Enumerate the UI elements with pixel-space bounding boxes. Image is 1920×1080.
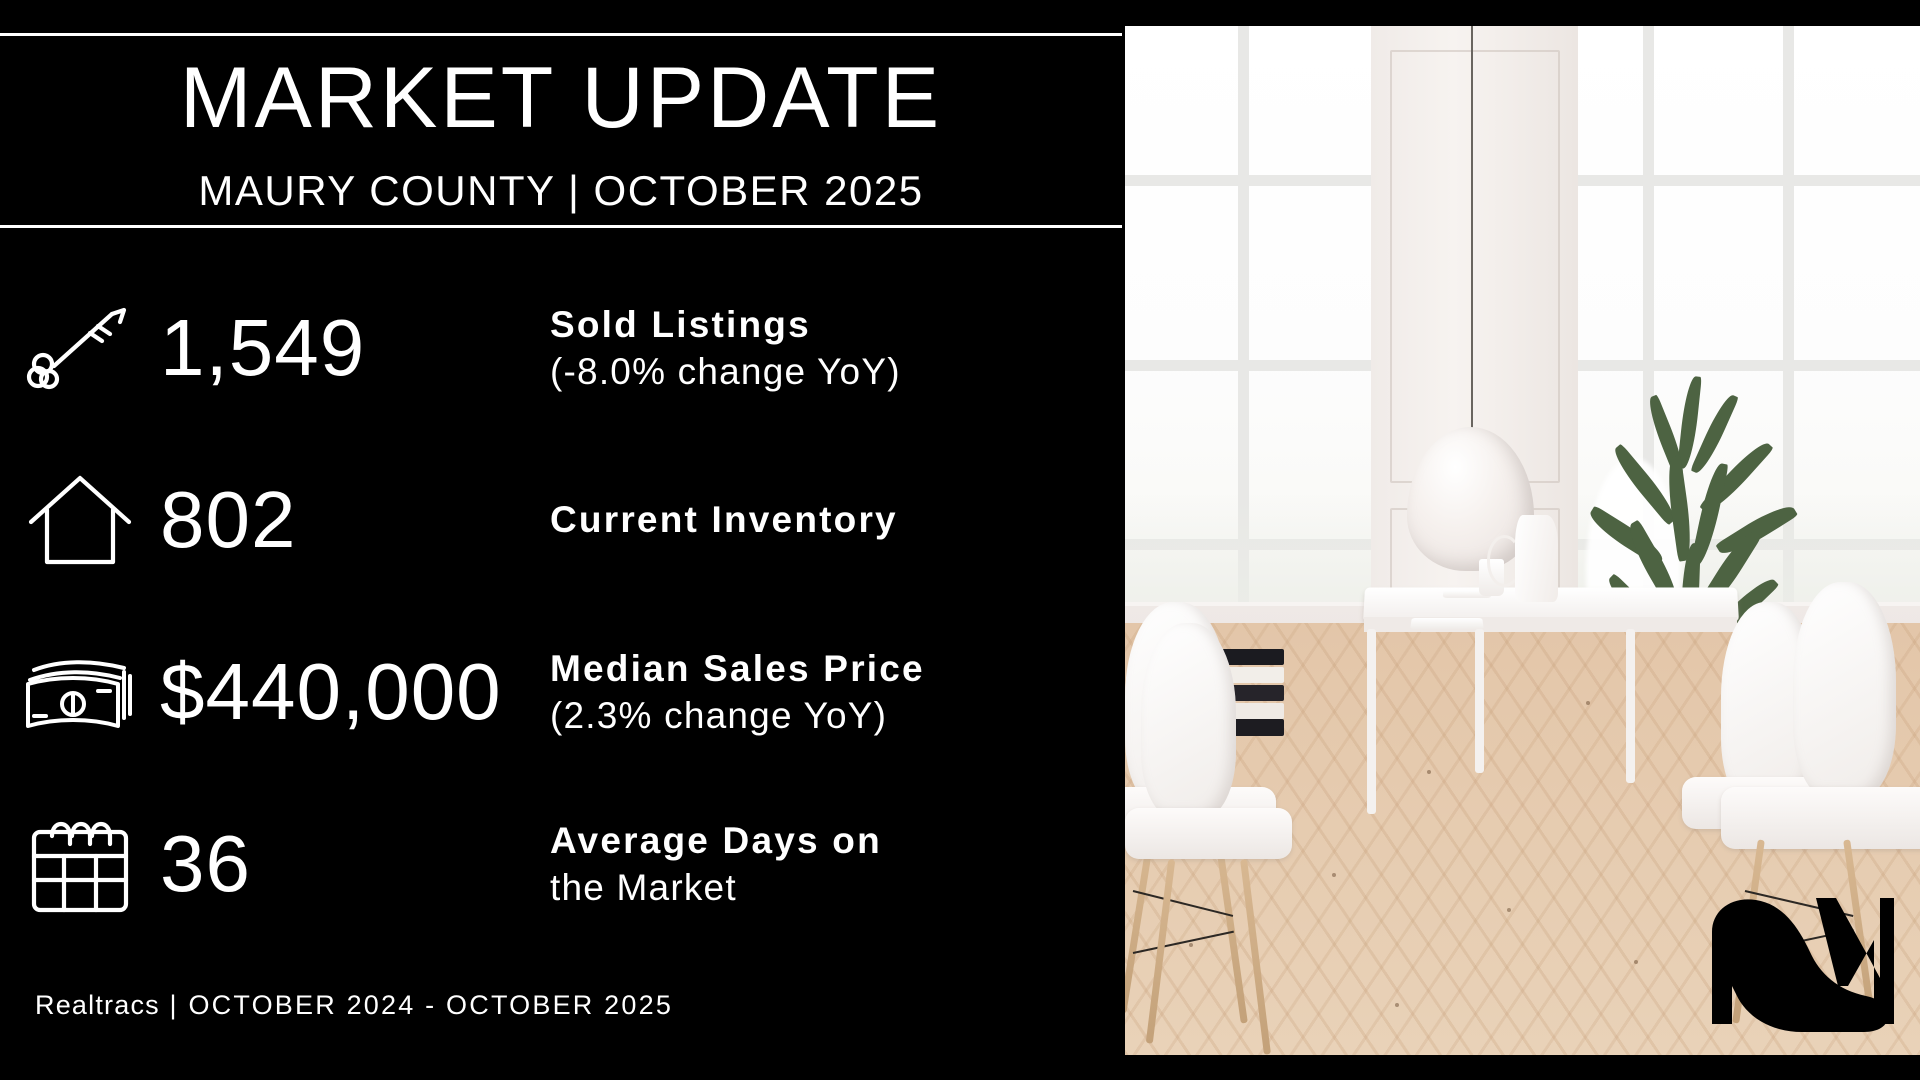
stat-value: 36	[160, 824, 550, 904]
footer-source: Realtracs | OCTOBER 2024 - OCTOBER 2025	[35, 990, 673, 1021]
stat-value: 1,549	[160, 308, 550, 388]
interior-photo	[1125, 26, 1920, 1055]
lamp-cord	[1471, 26, 1473, 438]
chair-right2-back	[1793, 582, 1896, 798]
stat-row: $440,000 Median Sales Price (2.3% change…	[0, 612, 1122, 772]
key-icon	[0, 288, 160, 408]
window-left	[1125, 26, 1371, 623]
calendar-icon	[0, 804, 160, 924]
high-heel-m-logo	[1698, 874, 1898, 1049]
white-jug	[1515, 515, 1559, 602]
footer-separator: |	[160, 990, 189, 1020]
footer-brand: Realtracs	[35, 990, 160, 1020]
stat-label-sub: the Market	[550, 864, 1122, 911]
page-title: MARKET UPDATE	[0, 55, 1122, 141]
table-leg	[1626, 629, 1635, 783]
page-subtitle: MAURY COUNTY | OCTOBER 2025	[0, 170, 1122, 212]
stat-label-main: Current Inventory	[550, 499, 898, 540]
header-rule-bottom	[0, 225, 1122, 228]
cash-icon	[0, 632, 160, 752]
stat-label: Median Sales Price (2.3% change YoY)	[550, 645, 1122, 740]
chair-left2-seat	[1125, 808, 1292, 859]
stat-label-main: Median Sales Price	[550, 648, 925, 689]
stats-list: 1,549 Sold Listings (-8.0% change YoY) 8…	[0, 268, 1122, 958]
stat-label: Average Days on the Market	[550, 817, 1122, 912]
stat-label-sub: (-8.0% change YoY)	[550, 348, 1122, 395]
header-block: MARKET UPDATE MAURY COUNTY | OCTOBER 202…	[0, 33, 1122, 228]
photo-scene	[1125, 26, 1920, 1055]
stat-label-main: Sold Listings	[550, 304, 811, 345]
stat-label: Current Inventory	[550, 496, 1122, 543]
stat-value: 802	[160, 480, 550, 560]
stat-label-main: Average Days on	[550, 820, 882, 861]
stat-row: 36 Average Days on the Market	[0, 784, 1122, 944]
header-rule-top	[0, 33, 1122, 36]
house-icon	[0, 460, 160, 580]
table-leg	[1367, 629, 1376, 814]
stat-label-sub: (2.3% change YoY)	[550, 692, 1122, 739]
plate	[1410, 617, 1483, 628]
footer-range: OCTOBER 2024 - OCTOBER 2025	[188, 990, 673, 1020]
left-content-panel: MARKET UPDATE MAURY COUNTY | OCTOBER 202…	[0, 0, 1125, 1080]
stat-row: 802 Current Inventory	[0, 440, 1122, 600]
chair-left2-back	[1141, 623, 1236, 819]
stat-label: Sold Listings (-8.0% change YoY)	[550, 301, 1122, 396]
stat-value: $440,000	[160, 652, 550, 732]
table-leg	[1475, 629, 1484, 773]
chair-right2-seat	[1721, 787, 1920, 849]
stat-row: 1,549 Sold Listings (-8.0% change YoY)	[0, 268, 1122, 428]
